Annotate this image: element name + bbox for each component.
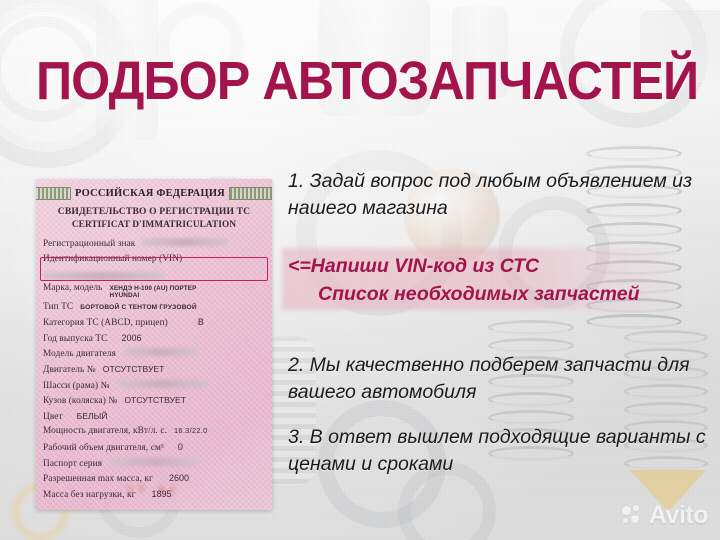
doc-value: ОТСУТСТВУЕТ <box>124 395 186 405</box>
page-title: ПОДБОР АВТОЗАПЧАСТЕЙ <box>36 50 650 112</box>
ornament-right-icon <box>229 187 272 200</box>
doc-label: Идентификационный номер (VIN) <box>43 254 182 264</box>
doc-row-engine-model: Модель двигателя <box>43 348 265 364</box>
document-footer-code: 77 11 <box>36 484 272 496</box>
doc-row-reg-plate: Регистрационный знак <box>43 238 265 254</box>
doc-row-body: Кузов (коляска) № ОТСУТСТВУЕТ <box>43 395 265 411</box>
doc-row-make-model: Марка, модель ХЕНДЭ Н-100 (AU) ПОРТЕР HY… <box>43 283 265 302</box>
redaction-bar <box>142 238 228 246</box>
redaction-bar <box>43 272 165 280</box>
doc-row-color: Цвет БЕЛЫЙ <box>43 411 265 427</box>
doc-value: 2006 <box>122 333 142 343</box>
doc-label: Категория ТС (ABCD, прицеп) <box>43 318 168 328</box>
doc-label: Цвет <box>43 412 63 422</box>
doc-label: Шасси (рама) № <box>43 381 110 391</box>
doc-row-year: Год выпуска ТС 2006 <box>43 333 265 349</box>
vin-callout: <=Напиши VIN-код из СТС Список необходим… <box>288 252 708 308</box>
avito-logo-icon <box>622 505 644 527</box>
doc-value: БЕЛЫЙ <box>77 411 108 421</box>
document-country: РОССИЙСКАЯ ФЕДЕРАЦИЯ <box>75 188 225 199</box>
redaction-bar <box>117 380 209 388</box>
doc-row-chassis: Шасси (рама) № <box>43 380 265 396</box>
doc-row-category: Категория ТС (ABCD, прицеп) B <box>43 317 265 333</box>
document-heading-ru: СВИДЕТЕЛЬСТВО О РЕГИСТРАЦИИ ТС <box>43 206 265 217</box>
doc-row-vin: Идентификационный номер (VIN) <box>43 254 265 272</box>
doc-row-vin-value <box>43 272 265 283</box>
doc-value: 2600 <box>169 473 189 483</box>
redaction-bar <box>123 348 197 356</box>
avito-watermark: Avito <box>622 501 708 530</box>
poster-canvas: ПОДБОР АВТОЗАПЧАСТЕЙ РОССИЙСКАЯ ФЕДЕРАЦИ… <box>0 0 720 540</box>
doc-label: Разрешенная max масса, кг <box>43 474 153 484</box>
document-country-line: РОССИЙСКАЯ ФЕДЕРАЦИЯ <box>43 187 265 200</box>
doc-label: Регистрационный знак <box>43 239 135 249</box>
step-1-text: 1. Задай вопрос под любым объявлением из… <box>288 168 708 222</box>
doc-label: Модель двигателя <box>43 349 116 359</box>
vin-callout-line-1: <=Напиши VIN-код из СТС <box>288 252 708 280</box>
step-3-text: 3. В ответ вышлем подходящие варианты с … <box>288 424 708 478</box>
doc-label: Кузов (коляска) № <box>43 396 117 406</box>
doc-row-power: Мощность двигателя, кВт/л. с. 16.3/22.0 <box>43 426 265 442</box>
doc-row-displacement: Рабочий объем двигателя, см³ 0 <box>43 442 265 458</box>
avito-watermark-label: Avito <box>649 501 708 530</box>
doc-row-engine-no: Двигатель № ОТСУТСТВУЕТ <box>43 364 265 380</box>
doc-row-type: Тип ТС БОРТОВОЙ С ТЕНТОМ ГРУЗОВОЙ <box>43 302 265 318</box>
doc-value: ХЕНДЭ Н-100 (AU) ПОРТЕР HYUNDAI <box>110 285 218 300</box>
doc-label: Мощность двигателя, кВт/л. с. <box>43 426 167 436</box>
doc-label: Двигатель № <box>43 365 96 375</box>
doc-value: 0 <box>178 442 183 452</box>
vin-callout-line-2: Список необходимых запчастей <box>288 280 708 308</box>
document-field-list: Регистрационный знак Идентификационный н… <box>43 238 265 504</box>
doc-label: Рабочий объем двигателя, см³ <box>43 443 164 453</box>
doc-value: БОРТОВОЙ С ТЕНТОМ ГРУЗОВОЙ <box>80 304 197 311</box>
doc-value: ОТСУТСТВУЕТ <box>103 364 165 374</box>
doc-label: Марка, модель <box>43 283 103 293</box>
registration-certificate-image: РОССИЙСКАЯ ФЕДЕРАЦИЯ СВИДЕТЕЛЬСТВО О РЕГ… <box>36 179 272 510</box>
document-heading-fr: CERTIFICAT D'IMMATRICULATION <box>43 219 265 229</box>
doc-label: Тип ТС <box>43 302 73 312</box>
doc-value: 16.3/22.0 <box>174 426 208 435</box>
ornament-left-icon <box>36 187 71 200</box>
doc-value: B <box>198 317 204 327</box>
doc-row-passport: Паспорт серия <box>43 458 265 474</box>
doc-label: Паспорт серия <box>43 459 102 469</box>
doc-label: Год выпуска ТС <box>43 334 108 344</box>
step-2-text: 2. Мы качественно подберем запчасти для … <box>288 352 708 406</box>
redaction-bar <box>109 458 201 466</box>
